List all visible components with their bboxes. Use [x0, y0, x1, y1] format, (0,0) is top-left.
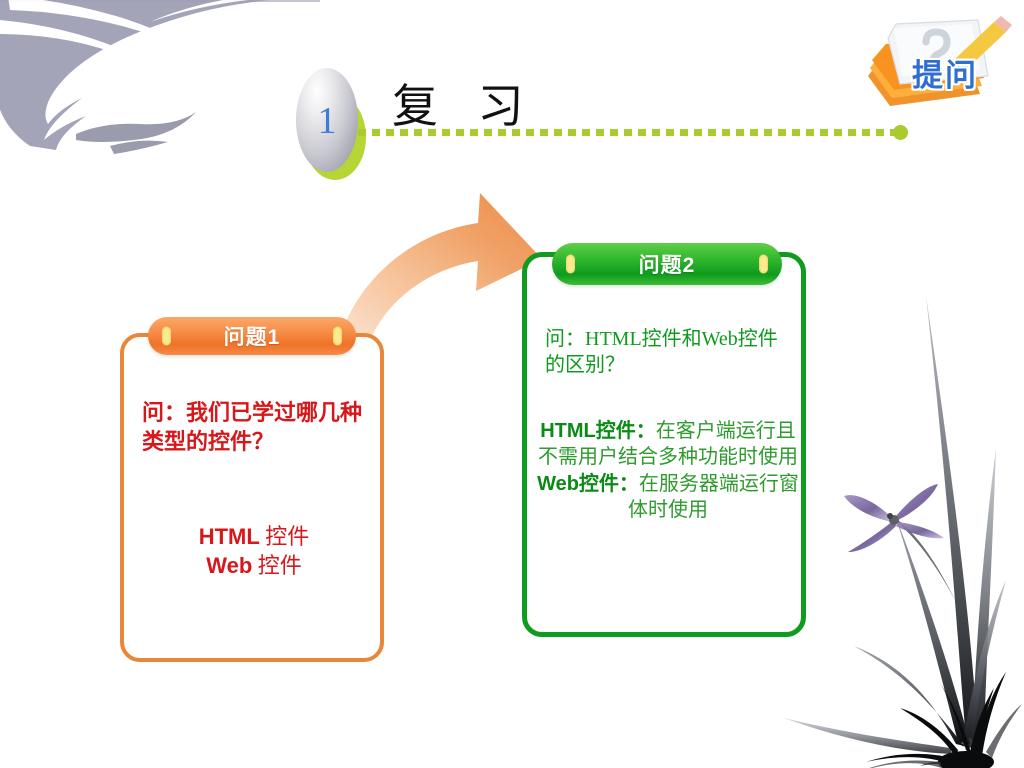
dragonfly-icon: [844, 484, 956, 602]
pill-cap-right-icon: [759, 255, 768, 274]
question-1-answer-line: Web 控件: [134, 552, 374, 581]
answer-1-cn: 控件: [260, 524, 310, 549]
ask-question-icon: 提问: [860, 14, 1015, 114]
answer-2-cn: 控件: [252, 553, 302, 578]
badge-number-label: 1: [296, 102, 358, 140]
title-dotted-rule: [358, 129, 894, 136]
pill-cap-right-icon: [333, 327, 342, 346]
answer-2-en: Web: [206, 553, 252, 578]
question-2-header-label: 问题2: [639, 249, 696, 279]
question-2-header-pill: 问题2: [552, 243, 782, 285]
ask-question-label: 提问: [880, 50, 1010, 95]
question-1-header-pill: 问题1: [148, 317, 356, 355]
slide-number-badge: 1: [296, 68, 366, 178]
question-1-box: [120, 333, 384, 662]
ink-brush-swirl-icon: [0, 0, 290, 164]
question-1-text: 问：我们已学过哪几种类型的控件？: [142, 399, 367, 456]
answer-1-en: HTML: [199, 524, 260, 549]
question-2-answer-block: HTML控件：在客户端运行且不需用户结合多种功能时使用: [534, 418, 802, 471]
page-title: 复 习: [392, 70, 538, 136]
pill-cap-left-icon: [566, 255, 575, 274]
answer-block-2-lead: Web控件：: [537, 473, 639, 495]
question-2-answer: HTML控件：在客户端运行且不需用户结合多种功能时使用 Web控件：在服务器端运…: [534, 418, 802, 524]
question-2-answer-block: Web控件：在服务器端运行窗体时使用: [534, 471, 802, 524]
question-2-text: 问：HTML控件和Web控件的区别？: [545, 326, 791, 378]
answer-block-1-lead: HTML控件：: [540, 420, 656, 442]
ink-grass-orchid-icon: [780, 280, 1024, 768]
question-1-header-label: 问题1: [224, 321, 281, 351]
slide-canvas: 1 复 习 提问: [0, 0, 1024, 768]
answer-block-2-body: 在服务器端运行窗体时使用: [628, 473, 799, 521]
question-1-answer: HTML 控件 Web 控件: [134, 523, 374, 580]
pill-cap-left-icon: [162, 327, 171, 346]
question-1-answer-line: HTML 控件: [134, 523, 374, 552]
top-rule: [0, 0, 320, 2]
title-rule-end-dot: [893, 125, 908, 140]
